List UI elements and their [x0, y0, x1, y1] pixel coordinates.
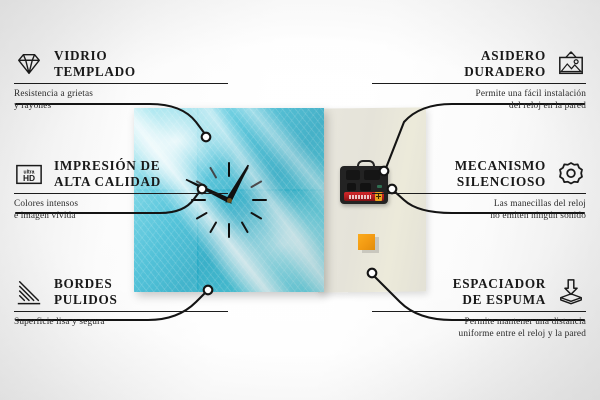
battery-label	[349, 195, 371, 199]
feature-heading: ultra HD IMPRESIÓN DE ALTA CALIDAD	[14, 158, 228, 189]
feature-title-line2: DURADERO	[464, 64, 546, 80]
feature-title-line2: SILENCIOSO	[455, 174, 546, 190]
feature-divider	[372, 193, 586, 194]
feature-title-line2: PULIDOS	[54, 292, 118, 308]
feature-heading: BORDES PULIDOS	[14, 276, 228, 307]
feature-divider	[372, 83, 586, 84]
feature-desc-line1: Las manecillas del reloj	[372, 199, 586, 210]
foam-spacer-block	[358, 234, 375, 250]
feature-heading: ESPACIADOR DE ESPUMA	[372, 276, 586, 307]
feature-desc-line2: uniforme entre el reloj y la pared	[372, 329, 586, 340]
feature-desc-line1: Permite mantener una distancia	[372, 317, 586, 328]
feature-desc-line2: e imagen vívida	[14, 211, 228, 222]
feature-desc-line1: Superficie lisa y segura	[14, 317, 228, 328]
movement-detail	[360, 183, 371, 191]
feature-title-line1: VIDRIO	[54, 48, 136, 64]
feature-desc-line1: Permite una fácil instalación	[372, 89, 586, 100]
feature-divider	[14, 83, 228, 84]
feature-title-line2: DE ESPUMA	[453, 292, 546, 308]
feature-bordes-pulidos[interactable]: BORDES PULIDOS Superficie lisa y segura	[14, 276, 228, 329]
feature-divider	[372, 311, 586, 312]
feature-title-line1: BORDES	[54, 276, 118, 292]
feature-divider	[14, 311, 228, 312]
feature-desc-line2: y rayones	[14, 101, 228, 112]
movement-detail	[347, 183, 356, 191]
feature-desc-line1: Resistencia a grietas	[14, 89, 228, 100]
feature-title-line1: ASIDERO	[464, 48, 546, 64]
feature-espaciador-de-espuma[interactable]: ESPACIADOR DE ESPUMA Permite mantener un…	[372, 276, 586, 340]
polished-edges-icon	[14, 278, 44, 306]
svg-text:HD: HD	[23, 172, 35, 182]
wall-hanger-icon	[556, 50, 586, 78]
infographic-canvas: VIDRIO TEMPLADO Resistencia a grietas y …	[0, 0, 600, 400]
feature-title-line1: IMPRESIÓN DE	[54, 158, 161, 174]
foam-spacer	[358, 234, 376, 251]
diamond-icon	[14, 50, 44, 78]
feature-title-line1: ESPACIADOR	[453, 276, 546, 292]
feature-asidero-duradero[interactable]: ASIDERO DURADERO Permite una fácil insta…	[372, 48, 586, 112]
foam-spacer-icon	[556, 278, 586, 306]
feature-heading: MECANISMO SILENCIOSO	[372, 158, 586, 189]
feature-desc-line2: no emiten ningún sonido	[372, 211, 586, 222]
feature-impresion-alta-calidad[interactable]: ultra HD IMPRESIÓN DE ALTA CALIDAD Color…	[14, 158, 228, 222]
feature-heading: VIDRIO TEMPLADO	[14, 48, 228, 79]
ultra-hd-icon: ultra HD	[14, 160, 44, 188]
feature-heading: ASIDERO DURADERO	[372, 48, 586, 79]
feature-title-line2: ALTA CALIDAD	[54, 174, 161, 190]
feature-desc-line2: del reloj en la pared	[372, 101, 586, 112]
feature-desc-line1: Colores intensos	[14, 199, 228, 210]
feature-divider	[14, 193, 228, 194]
feature-title-line1: MECANISMO	[455, 158, 546, 174]
feature-mecanismo-silencioso[interactable]: MECANISMO SILENCIOSO Las manecillas del …	[372, 158, 586, 222]
gear-icon	[556, 160, 586, 188]
feature-vidrio-templado[interactable]: VIDRIO TEMPLADO Resistencia a grietas y …	[14, 48, 228, 112]
feature-title-line2: TEMPLADO	[54, 64, 136, 80]
